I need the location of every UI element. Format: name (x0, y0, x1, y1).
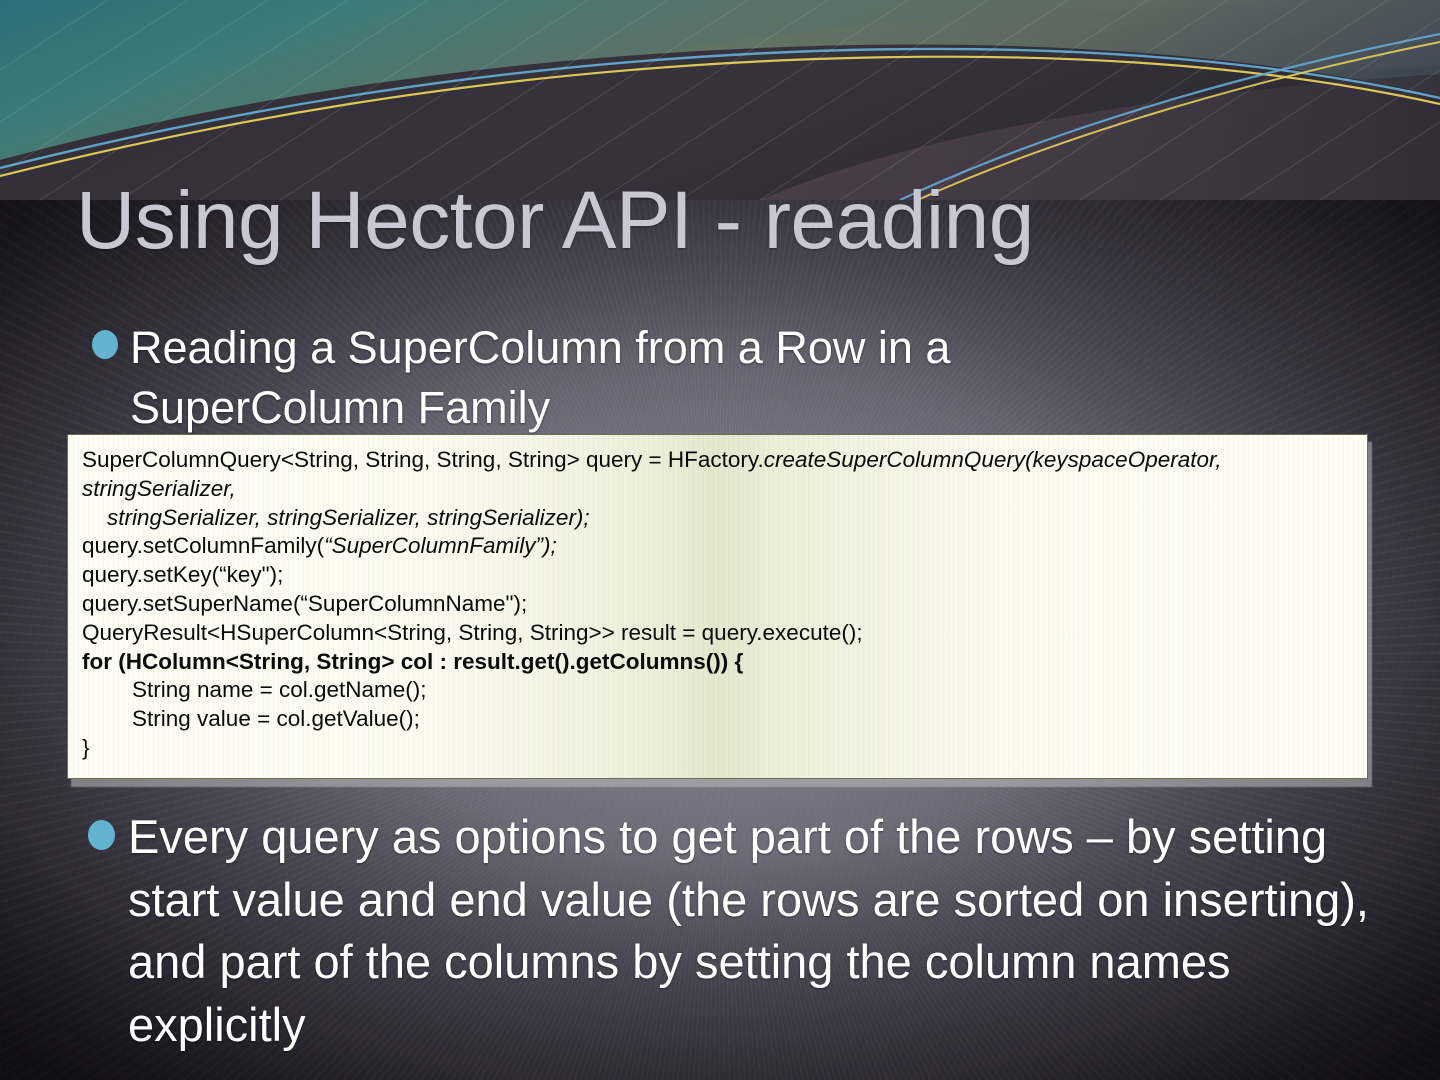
code-line: } (82, 734, 1353, 763)
code-run: query.setSuperName(“SuperColumnName"); (82, 591, 527, 616)
slide: Using Hector API - reading Reading a Sup… (0, 0, 1440, 1080)
bullet-item-top-label: Reading a SuperColumn from a Row in a Su… (130, 318, 1132, 438)
code-block-panel: SuperColumnQuery<String, String, String,… (67, 434, 1368, 779)
code-line: stringSerializer, (82, 475, 1353, 504)
code-run: query.setColumnFamily( (82, 533, 324, 558)
code-line: query.setSuperName(“SuperColumnName"); (82, 590, 1353, 619)
bullet-item-bottom-label: Every query as options to get part of th… (128, 806, 1378, 1056)
bullet-dot-icon (88, 820, 115, 850)
code-run: QueryResult<HSuperColumn<String, String,… (82, 620, 863, 645)
code-run: for (HColumn<String, String> col : resul… (82, 649, 743, 674)
code-block: SuperColumnQuery<String, String, String,… (67, 434, 1368, 779)
code-run: query.setKey(“key"); (82, 562, 283, 587)
page-title: Using Hector API - reading (76, 178, 1376, 263)
code-line: String name = col.getName(); (82, 676, 1353, 705)
code-line: for (HColumn<String, String> col : resul… (82, 648, 1353, 677)
code-run: stringSerializer, stringSerializer, stri… (82, 505, 590, 530)
code-run: SuperColumnQuery<String, String, String,… (82, 447, 764, 472)
code-run: “SuperColumnFamily”); (324, 533, 557, 558)
code-line: query.setColumnFamily(“SuperColumnFamily… (82, 532, 1353, 561)
code-run: String value = col.getValue(); (82, 706, 420, 731)
bullet-item-bottom: Every query as options to get part of th… (88, 806, 1378, 1056)
bullet-item-top: Reading a SuperColumn from a Row in a Su… (92, 318, 1132, 438)
code-line: QueryResult<HSuperColumn<String, String,… (82, 619, 1353, 648)
code-line: query.setKey(“key"); (82, 561, 1353, 590)
code-run: } (82, 735, 90, 760)
code-line: SuperColumnQuery<String, String, String,… (82, 446, 1353, 475)
code-run: createSuperColumnQuery(keyspaceOperator, (764, 447, 1222, 472)
code-run: stringSerializer, (82, 476, 236, 501)
code-line: String value = col.getValue(); (82, 705, 1353, 734)
code-run: String name = col.getName(); (82, 677, 427, 702)
code-line: stringSerializer, stringSerializer, stri… (82, 504, 1353, 533)
page-title-separator: - (692, 175, 763, 266)
code-block-content: SuperColumnQuery<String, String, String,… (68, 435, 1367, 763)
bullet-dot-icon (92, 330, 118, 359)
page-title-main: Using Hector API (76, 175, 692, 266)
page-title-tail: reading (764, 175, 1034, 266)
